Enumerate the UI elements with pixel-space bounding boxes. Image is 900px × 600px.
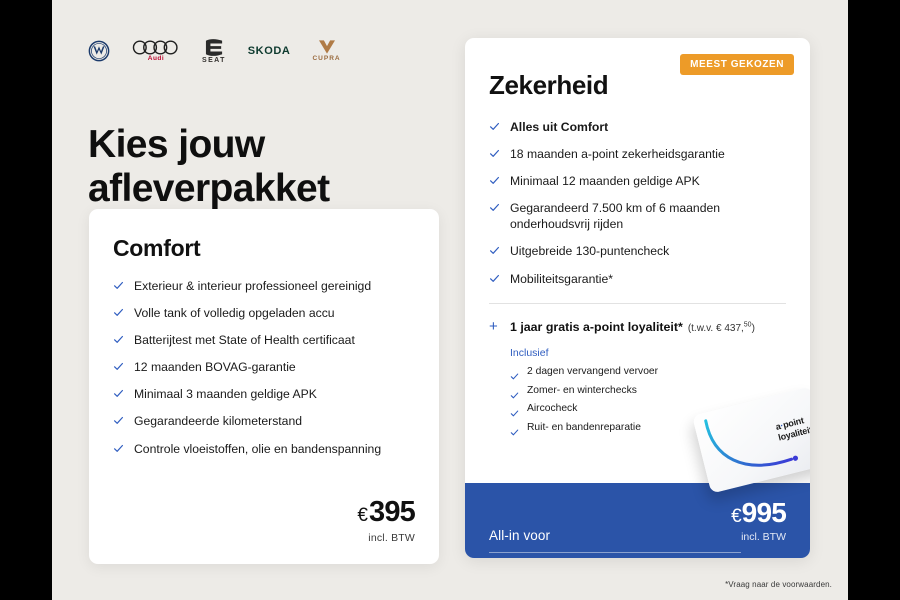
list-item: Controle vloeistoffen, olie en bandenspa… — [113, 441, 415, 457]
seat-logo: SEAT — [202, 39, 226, 64]
inclusief-text: Zomer- en winterchecks — [527, 385, 637, 398]
check-icon — [113, 334, 124, 345]
list-item: Gegarandeerde kilometerstand — [113, 413, 415, 429]
feature-text: Minimaal 12 maanden geldige APK — [510, 173, 700, 189]
list-item: Volle tank of volledig opgeladen accu — [113, 305, 415, 321]
price-amount: 395 — [369, 496, 415, 528]
skoda-logo: SKODA — [248, 45, 291, 57]
loyalty-value-prefix: (t.w.v. € 437, — [688, 323, 744, 334]
inclusief-title: Inclusief — [510, 347, 786, 359]
check-icon — [510, 424, 519, 433]
feature-text: Gegarandeerd 7.500 km of 6 maanden onder… — [510, 200, 786, 232]
section-divider — [489, 303, 786, 304]
comfort-price-block: €395 incl. BTW — [357, 498, 415, 544]
brand-logo-strip: Audi SEAT SKODA CUPRA — [88, 36, 341, 66]
inclusief-text: Aircocheck — [527, 403, 577, 416]
feature-text: Batterijtest met State of Health certifi… — [134, 332, 355, 348]
check-icon — [510, 368, 519, 377]
package-card-zekerheid[interactable]: MEEST GEKOZEN Zekerheid Alles uit Comfor… — [465, 38, 810, 558]
comfort-feature-list: Exterieur & interieur professioneel gere… — [113, 278, 415, 457]
screenshot-stage: Audi SEAT SKODA CUPRA — [0, 0, 900, 600]
footer-price-block: €995 incl. BTW — [731, 499, 786, 543]
currency-symbol: € — [357, 505, 368, 526]
plus-icon: + — [489, 319, 500, 334]
check-icon — [113, 280, 124, 291]
list-item: 18 maanden a-point zekerheidsgarantie — [489, 146, 786, 162]
letterbox-right — [848, 0, 900, 600]
list-item: 12 maanden BOVAG-garantie — [113, 359, 415, 375]
cupra-wordmark: CUPRA — [312, 56, 340, 63]
list-item: Batterijtest met State of Health certifi… — [113, 332, 415, 348]
zekerheid-body: Zekerheid Alles uit Comfort 18 maanden a… — [465, 38, 810, 435]
list-item: Minimaal 3 maanden geldige APK — [113, 386, 415, 402]
footer-row: All-in voor €995 incl. BTW — [489, 499, 786, 543]
footer-price-note: incl. BTW — [731, 531, 786, 543]
price-amount: 995 — [742, 497, 786, 528]
footer-price: €995 — [731, 499, 786, 527]
loyalty-value-suffix: ) — [752, 323, 755, 334]
check-icon — [510, 387, 519, 396]
feature-text: Volle tank of volledig opgeladen accu — [134, 305, 335, 321]
feature-text: Alles uit Comfort — [510, 119, 608, 135]
loyalty-title: 1 jaar gratis a-point loyaliteit* — [510, 320, 683, 334]
check-icon — [510, 405, 519, 414]
loyalty-value: (t.w.v. € 437,50) — [688, 323, 755, 334]
check-icon — [113, 415, 124, 426]
feature-text: Gegarandeerde kilometerstand — [134, 413, 302, 429]
loyalty-row: + 1 jaar gratis a-point loyaliteit*(t.w.… — [489, 318, 786, 336]
zekerheid-feature-list: Alles uit Comfort 18 maanden a-point zek… — [489, 119, 786, 287]
inclusief-text: Ruit- en bandenreparatie — [527, 422, 641, 435]
package-card-comfort[interactable]: Comfort Exterieur & interieur profession… — [89, 209, 439, 564]
audi-wordmark: Audi — [148, 56, 164, 63]
list-item: 2 dagen vervangend vervoer — [510, 366, 786, 379]
page-title: Kies jouw afleverpakket — [88, 123, 418, 210]
list-item: Gegarandeerd 7.500 km of 6 maanden onder… — [489, 200, 786, 232]
comfort-title: Comfort — [113, 235, 415, 262]
currency-symbol: € — [731, 506, 742, 527]
check-icon — [113, 361, 124, 372]
check-icon — [489, 148, 500, 159]
check-icon — [489, 121, 500, 132]
comfort-price: €395 — [357, 498, 415, 527]
footer-underline — [489, 552, 741, 553]
list-item: Alles uit Comfort — [489, 119, 786, 135]
skoda-wordmark: SKODA — [248, 45, 291, 57]
list-item: Zomer- en winterchecks — [510, 385, 786, 398]
disclaimer-text: *Vraag naar de voorwaarden. — [725, 580, 832, 589]
feature-text: Minimaal 3 maanden geldige APK — [134, 386, 317, 402]
cupra-logo: CUPRA — [312, 39, 340, 63]
check-icon — [489, 175, 500, 186]
list-item: Minimaal 12 maanden geldige APK — [489, 173, 786, 189]
feature-text: Exterieur & interieur professioneel gere… — [134, 278, 371, 294]
check-icon — [113, 307, 124, 318]
status-badge: MEEST GEKOZEN — [680, 54, 794, 75]
seat-wordmark: SEAT — [202, 57, 226, 64]
check-icon — [489, 202, 500, 213]
feature-text: 12 maanden BOVAG-garantie — [134, 359, 296, 375]
letterbox-left — [0, 0, 52, 600]
comfort-price-note: incl. BTW — [357, 532, 415, 544]
list-item: Exterieur & interieur professioneel gere… — [113, 278, 415, 294]
feature-text: Uitgebreide 130-puntencheck — [510, 243, 669, 259]
inclusief-text: 2 dagen vervangend vervoer — [527, 366, 658, 379]
feature-text: Mobiliteitsgarantie* — [510, 271, 613, 287]
list-item: Uitgebreide 130-puntencheck — [489, 243, 786, 259]
footer-label: All-in voor — [489, 528, 550, 543]
loyalty-headline: 1 jaar gratis a-point loyaliteit*(t.w.v.… — [510, 318, 755, 336]
list-item: Mobiliteitsgarantie* — [489, 271, 786, 287]
check-icon — [489, 273, 500, 284]
check-icon — [113, 443, 124, 454]
check-icon — [113, 388, 124, 399]
loyalty-value-cents: 50 — [744, 321, 752, 328]
volkswagen-logo — [88, 40, 110, 62]
audi-logo: Audi — [132, 40, 180, 63]
check-icon — [489, 245, 500, 256]
feature-text: Controle vloeistoffen, olie en bandenspa… — [134, 441, 381, 457]
promo-canvas: Audi SEAT SKODA CUPRA — [52, 0, 848, 600]
feature-text: 18 maanden a-point zekerheidsgarantie — [510, 146, 725, 162]
zekerheid-footer: All-in voor €995 incl. BTW — [465, 483, 810, 558]
